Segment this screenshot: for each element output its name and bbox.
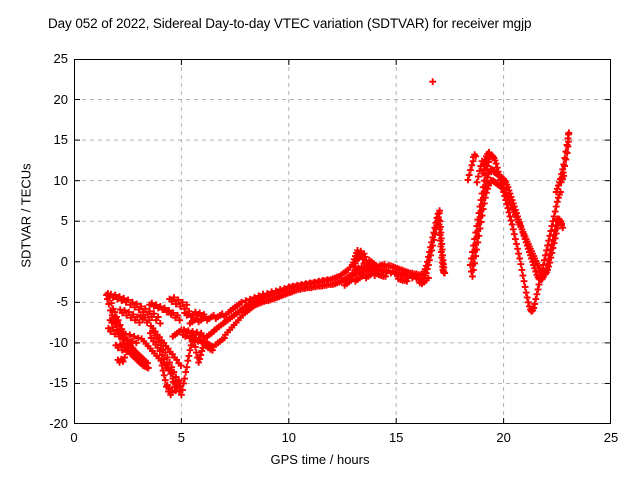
x-tick-label: 15 [371,431,421,444]
y-tick-label: 10 [8,174,68,187]
data-markers [103,78,572,398]
y-tick-label: 0 [8,255,68,268]
y-tick-label: -5 [8,295,68,308]
y-tick-label: 20 [8,93,68,106]
x-tick-label: 0 [49,431,99,444]
page-title: Day 052 of 2022, Sidereal Day-to-day VTE… [48,16,531,31]
y-tick-label: -15 [8,376,68,389]
x-tick-label: 5 [156,431,206,444]
x-axis-tick-labels: 0510152025 [74,431,611,451]
x-tick-label: 10 [264,431,314,444]
y-tick-label: 5 [8,214,68,227]
y-axis-tick-labels: -20-15-10-50510152025 [4,59,68,424]
y-tick-label: -20 [8,417,68,430]
chart-container: Day 052 of 2022, Sidereal Day-to-day VTE… [0,0,640,480]
y-tick-label: 25 [8,52,68,65]
x-tick-label: 20 [479,431,529,444]
x-axis-label: GPS time / hours [0,452,640,467]
x-tick-label: 25 [586,431,636,444]
y-tick-label: 15 [8,133,68,146]
plot-area [74,59,611,424]
scatter-plot-svg [74,59,611,424]
y-tick-label: -10 [8,336,68,349]
